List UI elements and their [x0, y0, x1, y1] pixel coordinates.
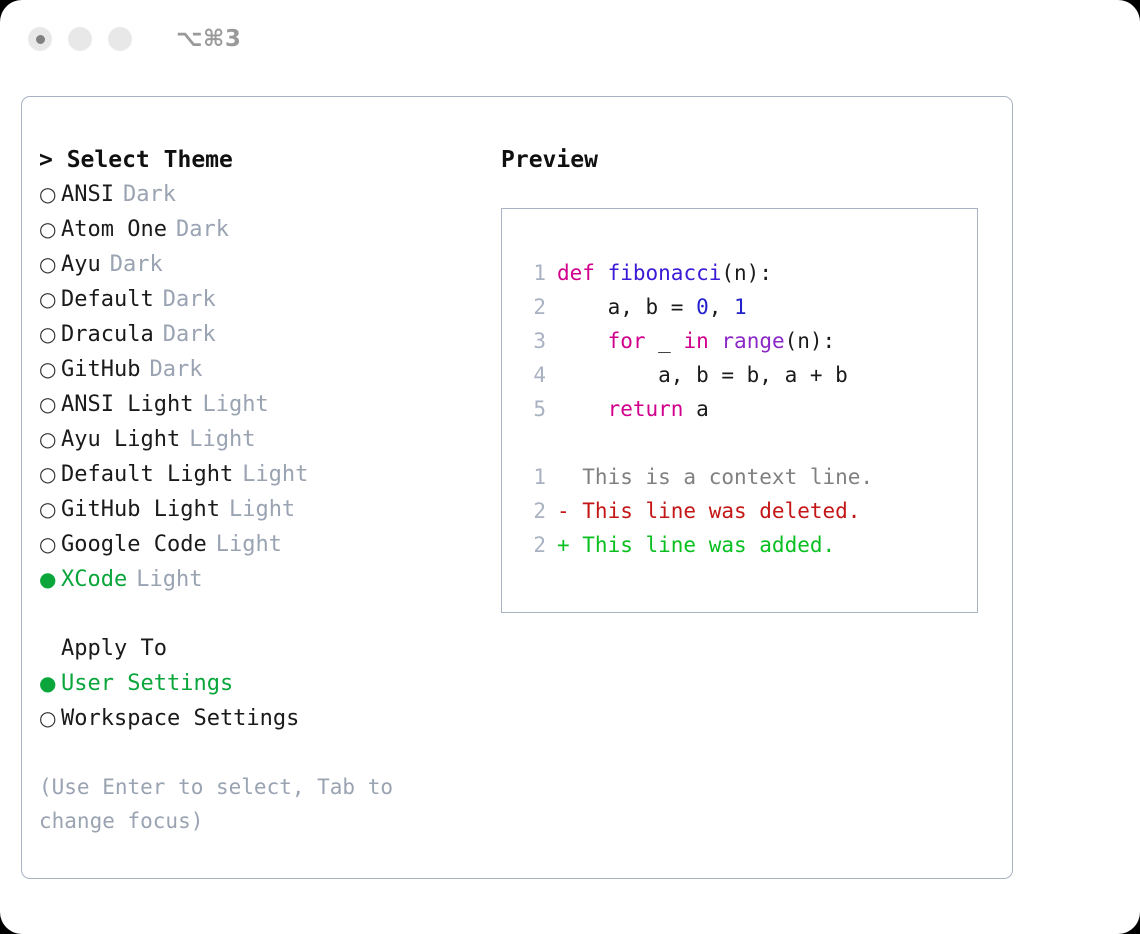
code-token-pln — [709, 329, 722, 353]
code-token-pln — [595, 261, 608, 285]
code-diff-separator — [520, 426, 977, 460]
theme-option-kind: Dark — [163, 283, 216, 317]
code-token-pln: (n): — [721, 261, 772, 285]
list-spacer — [39, 597, 469, 631]
theme-option-label: Dracula — [61, 318, 154, 352]
code-token-pln — [557, 329, 608, 353]
theme-option-default[interactable]: ○DefaultDark — [39, 282, 469, 317]
theme-option-kind: Dark — [110, 248, 163, 282]
code-token-call: range — [721, 329, 784, 353]
code-line: 5 return a — [520, 392, 977, 426]
theme-option-kind: Dark — [176, 213, 229, 247]
apply-to-heading-row: Apply To — [39, 631, 469, 666]
radio-unselected-icon: ○ — [39, 387, 61, 421]
code-line-content: a, b = b, a + b — [557, 358, 848, 392]
window-dot-second[interactable] — [68, 27, 92, 51]
code-sample: 1def fibonacci(n):2 a, b = 0, 13 for _ i… — [520, 256, 977, 426]
theme-option-label: GitHub Light — [61, 493, 220, 527]
radio-selected-icon: ● — [39, 562, 61, 596]
theme-option-ansi-light[interactable]: ○ANSI LightLight — [39, 387, 469, 422]
title-bar: ⌥⌘3 — [0, 0, 1140, 78]
theme-option-label: Ayu — [61, 248, 101, 282]
theme-option-kind: Dark — [163, 318, 216, 352]
theme-list[interactable]: ○ANSIDark○Atom OneDark○AyuDark○DefaultDa… — [39, 177, 469, 597]
theme-option-ayu-light[interactable]: ○Ayu LightLight — [39, 422, 469, 457]
theme-option-kind: Light — [189, 423, 255, 457]
theme-option-github-light[interactable]: ○GitHub LightLight — [39, 492, 469, 527]
radio-unselected-icon: ○ — [39, 282, 61, 316]
theme-option-google-code[interactable]: ○Google CodeLight — [39, 527, 469, 562]
app-window: ⌥⌘3 > Select Theme ○ANSIDark○Atom OneDar… — [0, 0, 1140, 934]
code-line-content: for _ in range(n): — [557, 324, 835, 358]
diff-line-content: + This line was added. — [557, 528, 835, 562]
code-token-pln: a, b = — [557, 295, 696, 319]
apply-to-option-user-settings[interactable]: ●User Settings — [39, 666, 469, 701]
diff-line-add: 2+ This line was added. — [520, 528, 977, 562]
diff-line-content: This is a context line. — [557, 460, 873, 494]
code-line: 4 a, b = b, a + b — [520, 358, 977, 392]
preview-heading: Preview — [501, 143, 996, 177]
theme-option-atom-one[interactable]: ○Atom OneDark — [39, 212, 469, 247]
code-token-pln: _ — [646, 329, 684, 353]
code-token-num: 1 — [734, 295, 747, 319]
code-token-pln: , — [709, 295, 734, 319]
theme-option-kind: Light — [242, 458, 308, 492]
theme-option-kind: Light — [229, 493, 295, 527]
window-dot-active-inner — [36, 35, 45, 44]
apply-to-heading-marker — [39, 631, 61, 665]
theme-option-kind: Light — [136, 563, 202, 597]
code-token-kw: for — [608, 329, 646, 353]
theme-list-column: > Select Theme ○ANSIDark○Atom OneDark○Ay… — [39, 143, 469, 838]
theme-picker-panel: > Select Theme ○ANSIDark○Atom OneDark○Ay… — [21, 96, 1013, 879]
theme-option-kind: Light — [202, 388, 268, 422]
code-line-number: 1 — [520, 256, 546, 290]
window-dot-active[interactable] — [28, 27, 52, 51]
theme-option-label: GitHub — [61, 353, 140, 387]
theme-option-github[interactable]: ○GitHubDark — [39, 352, 469, 387]
window-dot-third[interactable] — [108, 27, 132, 51]
code-token-pln: a, b = b, a + b — [557, 363, 848, 387]
diff-line-content: - This line was deleted. — [557, 494, 860, 528]
diff-line-number: 1 — [520, 460, 546, 494]
theme-option-label: ANSI Light — [61, 388, 193, 422]
code-line-number: 4 — [520, 358, 546, 392]
diff-line-del: 2- This line was deleted. — [520, 494, 977, 528]
code-line-content: def fibonacci(n): — [557, 256, 772, 290]
theme-option-default-light[interactable]: ○Default LightLight — [39, 457, 469, 492]
code-line: 2 a, b = 0, 1 — [520, 290, 977, 324]
theme-option-label: XCode — [61, 563, 127, 597]
code-token-kw: def — [557, 261, 595, 285]
theme-option-ayu[interactable]: ○AyuDark — [39, 247, 469, 282]
code-token-fn: fibonacci — [608, 261, 722, 285]
preview-column: Preview 1def fibonacci(n):2 a, b = 0, 13… — [501, 143, 996, 613]
radio-unselected-icon: ○ — [39, 492, 61, 526]
radio-unselected-icon: ○ — [39, 701, 61, 735]
code-line-number: 2 — [520, 290, 546, 324]
radio-unselected-icon: ○ — [39, 247, 61, 281]
apply-to-option-label: Workspace Settings — [61, 702, 299, 736]
code-token-kw: return — [608, 397, 684, 421]
code-line-number: 3 — [520, 324, 546, 358]
radio-selected-icon: ● — [39, 666, 61, 700]
code-line: 3 for _ in range(n): — [520, 324, 977, 358]
apply-to-option-label: User Settings — [61, 667, 233, 701]
radio-unselected-icon: ○ — [39, 457, 61, 491]
apply-to-list[interactable]: ●User Settings○Workspace Settings — [39, 666, 469, 736]
radio-unselected-icon: ○ — [39, 177, 61, 211]
code-token-pln — [557, 397, 608, 421]
radio-unselected-icon: ○ — [39, 212, 61, 246]
diff-line-ctx: 1 This is a context line. — [520, 460, 977, 494]
code-token-pln: (n): — [785, 329, 836, 353]
code-line-content: a, b = 0, 1 — [557, 290, 747, 324]
theme-option-label: Default — [61, 283, 154, 317]
theme-option-label: ANSI — [61, 178, 114, 212]
keyboard-hint: (Use Enter to select, Tab to change focu… — [39, 770, 449, 838]
radio-unselected-icon: ○ — [39, 352, 61, 386]
theme-option-xcode[interactable]: ●XCodeLight — [39, 562, 469, 597]
code-token-pln: a — [683, 397, 708, 421]
apply-to-option-workspace-settings[interactable]: ○Workspace Settings — [39, 701, 469, 736]
apply-to-heading-label: Apply To — [61, 632, 167, 666]
theme-option-kind: Dark — [123, 178, 176, 212]
select-theme-heading: > Select Theme — [39, 143, 469, 177]
code-token-num: 0 — [696, 295, 709, 319]
code-line-number: 5 — [520, 392, 546, 426]
code-line: 1def fibonacci(n): — [520, 256, 977, 290]
keyboard-shortcut-label: ⌥⌘3 — [176, 26, 241, 52]
diff-line-number: 2 — [520, 494, 546, 528]
radio-unselected-icon: ○ — [39, 422, 61, 456]
radio-unselected-icon: ○ — [39, 317, 61, 351]
diff-sample: 1 This is a context line.2- This line wa… — [520, 460, 977, 562]
radio-unselected-icon: ○ — [39, 527, 61, 561]
code-line-content: return a — [557, 392, 709, 426]
theme-option-label: Default Light — [61, 458, 233, 492]
diff-line-number: 2 — [520, 528, 546, 562]
theme-option-dracula[interactable]: ○DraculaDark — [39, 317, 469, 352]
theme-option-label: Google Code — [61, 528, 207, 562]
theme-option-label: Atom One — [61, 213, 167, 247]
theme-option-label: Ayu Light — [61, 423, 180, 457]
theme-option-kind: Light — [216, 528, 282, 562]
code-token-kw: in — [683, 329, 708, 353]
code-preview-box: 1def fibonacci(n):2 a, b = 0, 13 for _ i… — [501, 208, 978, 613]
theme-option-ansi[interactable]: ○ANSIDark — [39, 177, 469, 212]
theme-option-kind: Dark — [149, 353, 202, 387]
